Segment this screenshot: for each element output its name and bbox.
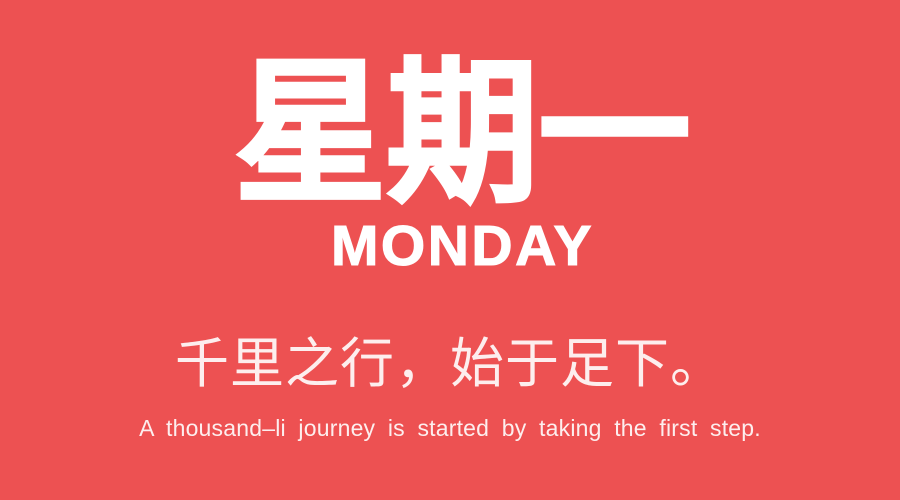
weekday-english: MONDAY	[0, 217, 900, 275]
day-card: 星期一 MONDAY 千里之行，始于足下。 A thousand–li jour…	[0, 0, 900, 500]
hero-group: 星期一 MONDAY	[0, 56, 900, 275]
proverb-chinese: 千里之行，始于足下。	[0, 333, 900, 395]
proverb-english: A thousand–li journey is started by taki…	[0, 414, 900, 442]
weekday-chinese: 星期一	[0, 54, 900, 214]
